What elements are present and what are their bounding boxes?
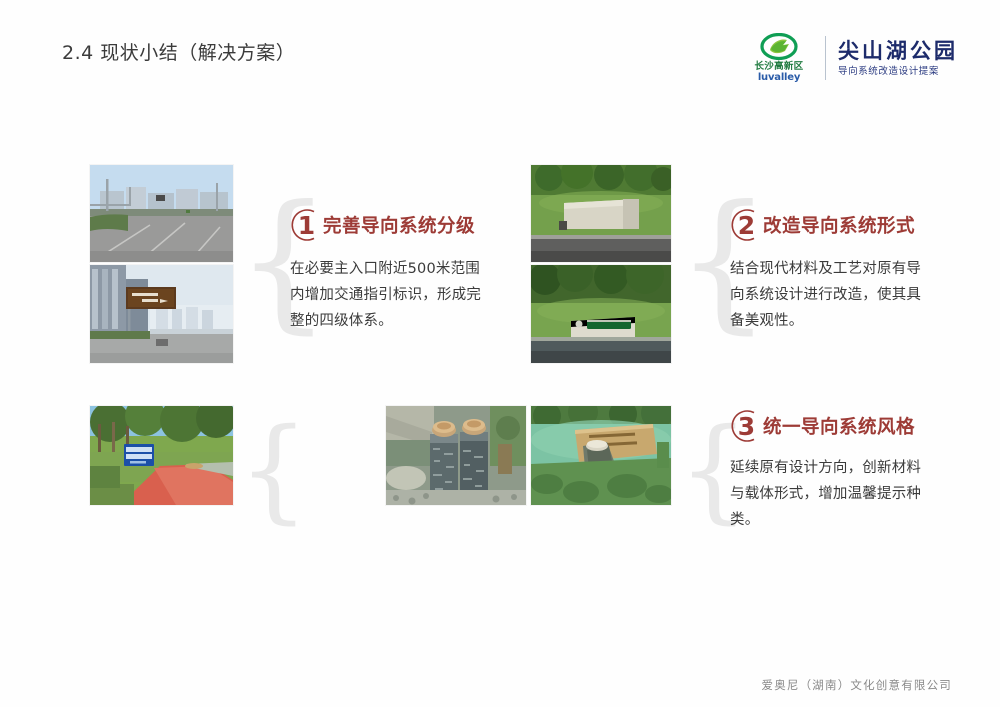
brand-logo-group: 长沙高新区 luvalley xyxy=(743,33,815,83)
brand-lockup: 长沙高新区 luvalley 尖山湖公园 导向系统改造设计提案 xyxy=(743,27,958,89)
item-3-heading: 3 统一导向系统风格 xyxy=(728,409,915,443)
item-1-number: 1 xyxy=(288,208,322,242)
item-2-number-badge: 2 xyxy=(728,208,762,242)
slide-page: 2.4 现状小结（解决方案） 长沙高新区 luvalley 尖山湖公园 导向系统… xyxy=(0,0,1000,707)
item-2-number: 2 xyxy=(728,208,762,242)
item-3-body: 延续原有设计方向，创新材料与载体形式，增加温馨提示种类。 xyxy=(730,455,926,533)
item-1-body: 在必要主入口附近500米范围内增加交通指引标识，形成完整的四级体系。 xyxy=(290,256,486,334)
photo-brown-directional-sign xyxy=(90,265,233,363)
item-1-number-badge: 1 xyxy=(288,208,322,242)
photo-blue-sign-red-trail xyxy=(90,406,233,505)
footer-company: 爱奥尼（湖南）文化创意有限公司 xyxy=(762,677,953,693)
item-1-heading: 1 完善导向系统分级 xyxy=(288,208,475,242)
brand-en-name: luvalley xyxy=(758,72,800,83)
project-subtitle: 导向系统改造设计提案 xyxy=(838,65,958,78)
project-title: 尖山湖公园 xyxy=(838,39,958,63)
luvalley-swirl-icon xyxy=(759,33,799,60)
project-title-group: 尖山湖公园 导向系统改造设计提案 xyxy=(838,39,958,78)
photo-wide-road-with-buildings xyxy=(90,165,233,262)
photo-concrete-sign-green-panel xyxy=(531,265,671,363)
brace-decoration-3-left: { xyxy=(238,414,309,526)
photo-concrete-sign-block xyxy=(531,165,671,262)
item-3-number-badge: 3 xyxy=(728,409,762,443)
item-2-body: 结合现代材料及工艺对原有导向系统设计进行改造，使其具备美观性。 xyxy=(730,256,926,334)
item-3-heading-text: 统一导向系统风格 xyxy=(763,413,915,439)
page-title: 2.4 现状小结（解决方案） xyxy=(62,38,295,65)
item-3-number: 3 xyxy=(728,409,762,443)
photo-wooden-notice-board xyxy=(531,406,671,505)
item-2-heading-text: 改造导向系统形式 xyxy=(763,212,915,238)
brand-divider xyxy=(825,36,826,80)
item-2-heading: 2 改造导向系统形式 xyxy=(728,208,915,242)
brand-cn-name: 长沙高新区 xyxy=(754,61,803,72)
photo-twin-stone-pillars xyxy=(386,406,526,505)
item-1-heading-text: 完善导向系统分级 xyxy=(323,212,475,238)
